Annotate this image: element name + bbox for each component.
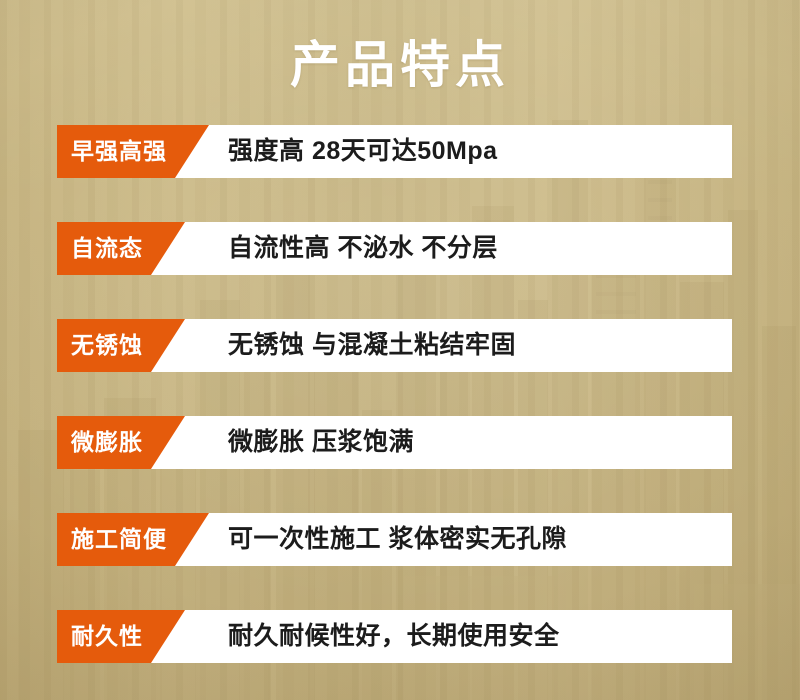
- feature-row: 耐久性 耐久耐候性好，长期使用安全: [0, 610, 800, 663]
- feature-row: 无锈蚀 无锈蚀 与混凝土粘结牢固: [0, 319, 800, 372]
- feature-tag: 施工简便: [57, 513, 175, 566]
- feature-list: 早强高强 强度高 28天可达50Mpa 自流态 自流性高 不泌水 不分层 无锈蚀…: [0, 125, 800, 663]
- feature-row: 早强高强 强度高 28天可达50Mpa: [0, 125, 800, 178]
- product-features-poster: 产品特点 早强高强 强度高 28天可达50Mpa 自流态 自流性高 不泌水 不分…: [0, 0, 800, 700]
- feature-description: 自流性高 不泌水 不分层: [228, 222, 498, 275]
- feature-tag: 微膨胀: [57, 416, 151, 469]
- feature-tag: 自流态: [57, 222, 151, 275]
- feature-tag: 早强高强: [57, 125, 175, 178]
- feature-row: 施工简便 可一次性施工 浆体密实无孔隙: [0, 513, 800, 566]
- feature-description: 微膨胀 压浆饱满: [228, 416, 414, 469]
- feature-description: 耐久耐候性好，长期使用安全: [228, 610, 560, 663]
- feature-row: 自流态 自流性高 不泌水 不分层: [0, 222, 800, 275]
- page-title: 产品特点: [0, 34, 800, 96]
- feature-description: 强度高 28天可达50Mpa: [228, 125, 498, 178]
- feature-row: 微膨胀 微膨胀 压浆饱满: [0, 416, 800, 469]
- feature-description: 无锈蚀 与混凝土粘结牢固: [228, 319, 516, 372]
- feature-tag: 耐久性: [57, 610, 151, 663]
- feature-tag: 无锈蚀: [57, 319, 151, 372]
- feature-description: 可一次性施工 浆体密实无孔隙: [228, 513, 567, 566]
